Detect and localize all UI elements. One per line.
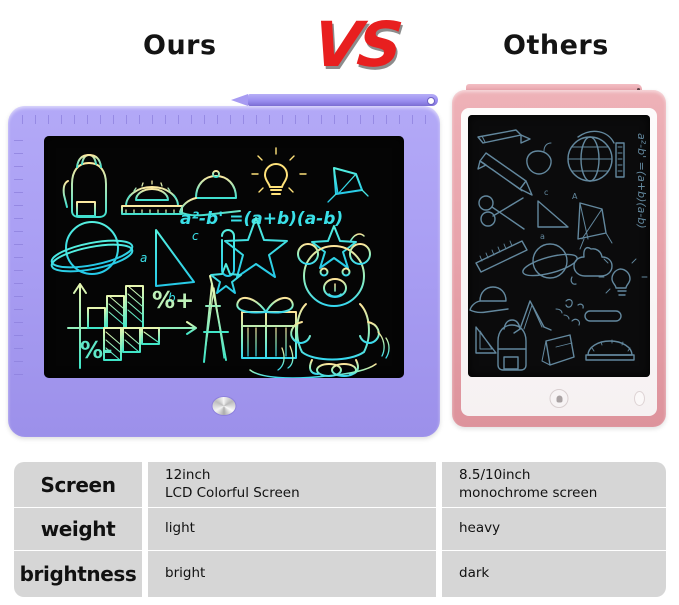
svg-text:a: a — [140, 251, 147, 265]
svg-text:c: c — [544, 188, 548, 197]
backpack-doodle — [498, 320, 526, 370]
others-value: dark — [459, 565, 489, 582]
planet-doodle — [50, 222, 135, 277]
cap-doodle — [470, 287, 508, 312]
others-value-cell: heavy — [442, 508, 666, 550]
row-label: Screen — [40, 473, 115, 497]
comparison-table: Screen 12inch LCD Colorful Screen 8.5/10… — [14, 462, 666, 597]
apple-doodle — [527, 143, 551, 174]
ruler-markings-left — [14, 140, 23, 380]
globe-doodle — [568, 131, 624, 181]
others-value: 8.5/10inch monochrome screen — [459, 467, 597, 502]
lightbulb-doodle — [252, 148, 306, 194]
others-power-button[interactable] — [550, 389, 569, 408]
others-value-cell: dark — [442, 551, 666, 597]
row-label-cell: Screen — [14, 462, 142, 507]
planet-doodle — [521, 244, 579, 280]
kite-doodle: A — [572, 192, 612, 249]
gift-box-doodle — [237, 298, 296, 358]
ruler-markings-top — [22, 115, 426, 124]
others-tablet: a²-b' =(a+b)(a-b) c — [452, 90, 666, 427]
bar-chart-doodle: %+ %- — [68, 284, 196, 368]
svg-text:A: A — [572, 192, 578, 201]
protractor-doodle — [122, 181, 182, 214]
svg-text:a: a — [540, 232, 545, 241]
ours-power-button[interactable] — [212, 396, 237, 416]
eraser-doodle — [585, 311, 621, 321]
ours-value: bright — [165, 565, 205, 582]
others-tablet-body: a²-b' =(a+b)(a-b) c — [452, 90, 666, 427]
compass-doodle — [204, 276, 228, 362]
lightbulb-doodle — [599, 259, 647, 295]
scissors-doodle — [479, 196, 524, 229]
product-comparison-page: Ours VS Others — [0, 0, 679, 605]
triangle-doodle: c a — [538, 188, 568, 241]
row-label-cell: brightness — [14, 551, 142, 597]
ours-value-cell: 12inch LCD Colorful Screen — [148, 462, 436, 507]
vs-logo-icon: VS — [304, 6, 408, 84]
ours-value-cell: light — [148, 508, 436, 550]
ours-value: 12inch LCD Colorful Screen — [165, 467, 300, 502]
others-lanyard-hole — [634, 391, 645, 406]
ours-stylus — [248, 94, 438, 106]
svg-text:%+: %+ — [152, 288, 194, 314]
ours-formula-text: a²-b' =(a+b)(a-b) — [180, 209, 343, 229]
others-bezel: a²-b' =(a+b)(a-b) c — [461, 108, 657, 416]
row-label: weight — [41, 517, 116, 541]
table-row: weight light heavy — [14, 508, 666, 550]
marker-doodle — [478, 130, 530, 143]
pencil-doodle — [478, 153, 532, 195]
table-row: brightness bright dark — [14, 551, 666, 597]
table-row: Screen 12inch LCD Colorful Screen 8.5/10… — [14, 462, 666, 507]
ours-tablet-body: a²-b' =(a+b)(a-b) a b — [8, 106, 440, 437]
others-title: Others — [503, 30, 609, 61]
others-value: heavy — [459, 520, 500, 537]
backpack-doodle — [64, 155, 106, 217]
row-label-cell: weight — [14, 508, 142, 550]
others-screen-doodles: a²-b' =(a+b)(a-b) c — [468, 115, 650, 377]
compass-doodle — [514, 301, 569, 333]
ours-value: light — [165, 520, 195, 537]
others-lcd-screen[interactable]: a²-b' =(a+b)(a-b) c — [468, 115, 650, 377]
svg-text:%-: %- — [80, 338, 113, 364]
products-row: a²-b' =(a+b)(a-b) a b — [0, 82, 679, 452]
protractor-doodle — [586, 340, 634, 360]
ours-screen-doodles: a²-b' =(a+b)(a-b) a b — [44, 136, 404, 378]
svg-text:c: c — [192, 229, 199, 243]
ours-value-cell: bright — [148, 551, 436, 597]
comparison-header: Ours VS Others — [0, 0, 679, 82]
others-value-cell: 8.5/10inch monochrome screen — [442, 462, 666, 507]
book-doodle — [542, 335, 574, 365]
set-square-doodle — [476, 327, 496, 353]
ruler-doodle — [476, 241, 527, 272]
ours-tablet: a²-b' =(a+b)(a-b) a b — [8, 106, 440, 437]
star-doodle — [211, 218, 356, 293]
ours-lcd-screen[interactable]: a²-b' =(a+b)(a-b) a b — [44, 136, 404, 378]
others-formula-text: a²-b' =(a+b)(a-b) — [635, 133, 648, 229]
row-label: brightness — [20, 562, 137, 586]
ours-title: Ours — [143, 30, 217, 61]
kite-doodle — [328, 168, 368, 202]
